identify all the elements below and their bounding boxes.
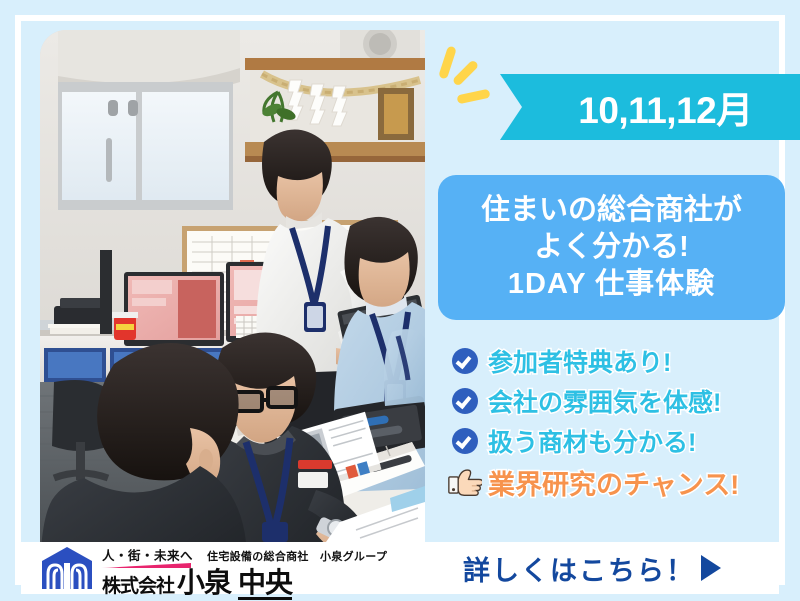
benefit-list: 参加者特典あり! 会社の雰囲気を体感! 扱う商材も分かる! [438, 341, 785, 503]
list-item-label: 参加者特典あり! [488, 343, 671, 379]
check-circle-icon [452, 388, 478, 414]
company-logo: 人・街・未来へ 住宅設備の総合商社 小泉グループ 株式会社 小泉 中央 [40, 542, 387, 594]
company-name-2: 中央 [238, 569, 292, 600]
list-item-label: 扱う商材も分かる! [488, 423, 696, 459]
list-item: 会社の雰囲気を体感! [438, 381, 785, 421]
month-ribbon-label: 10,11,12月 [552, 80, 752, 134]
headline-line-1: 住まいの総合商社が [481, 192, 742, 229]
check-circle-icon [452, 348, 478, 374]
headline-line-3: 1DAY 仕事体験 [508, 266, 715, 303]
month-ribbon: 10,11,12月 [500, 74, 800, 140]
headline-box: 住まいの総合商社が よく分かる! 1DAY 仕事体験 [438, 175, 785, 320]
list-item: 業界研究のチャンス! [438, 461, 785, 503]
ad-banner: 10,11,12月 住まいの総合商社が よく分かる! 1DAY 仕事体験 参加者… [0, 0, 800, 600]
company-prefix: 株式会社 [102, 571, 174, 598]
office-photo [40, 30, 425, 542]
logo-mark-icon [40, 546, 94, 590]
headline-line-2: よく分かる! [534, 229, 689, 266]
right-content-column: 10,11,12月 住まいの総合商社が よく分かる! 1DAY 仕事体験 参加者… [425, 28, 785, 540]
list-item: 扱う商材も分かる! [438, 421, 785, 461]
list-item-label: 業界研究のチャンス! [488, 463, 739, 502]
pointing-hand-icon [448, 468, 482, 496]
check-circle-icon [452, 428, 478, 454]
sparkle-icon [433, 46, 495, 116]
play-triangle-icon [701, 555, 721, 581]
cta-link[interactable]: 詳しくはこちら！ [463, 549, 721, 588]
list-item-label: 会社の雰囲気を体感! [488, 383, 721, 419]
logo-wordmark: 人・街・未来へ 住宅設備の総合商社 小泉グループ 株式会社 小泉 中央 [102, 543, 387, 593]
cta-label: 詳しくはこちら！ [463, 549, 695, 588]
company-name-1: 小泉 [177, 561, 231, 601]
footer-bar: 人・街・未来へ 住宅設備の総合商社 小泉グループ 株式会社 小泉 中央 詳しくは… [21, 542, 779, 594]
list-item: 参加者特典あり! [438, 341, 785, 381]
